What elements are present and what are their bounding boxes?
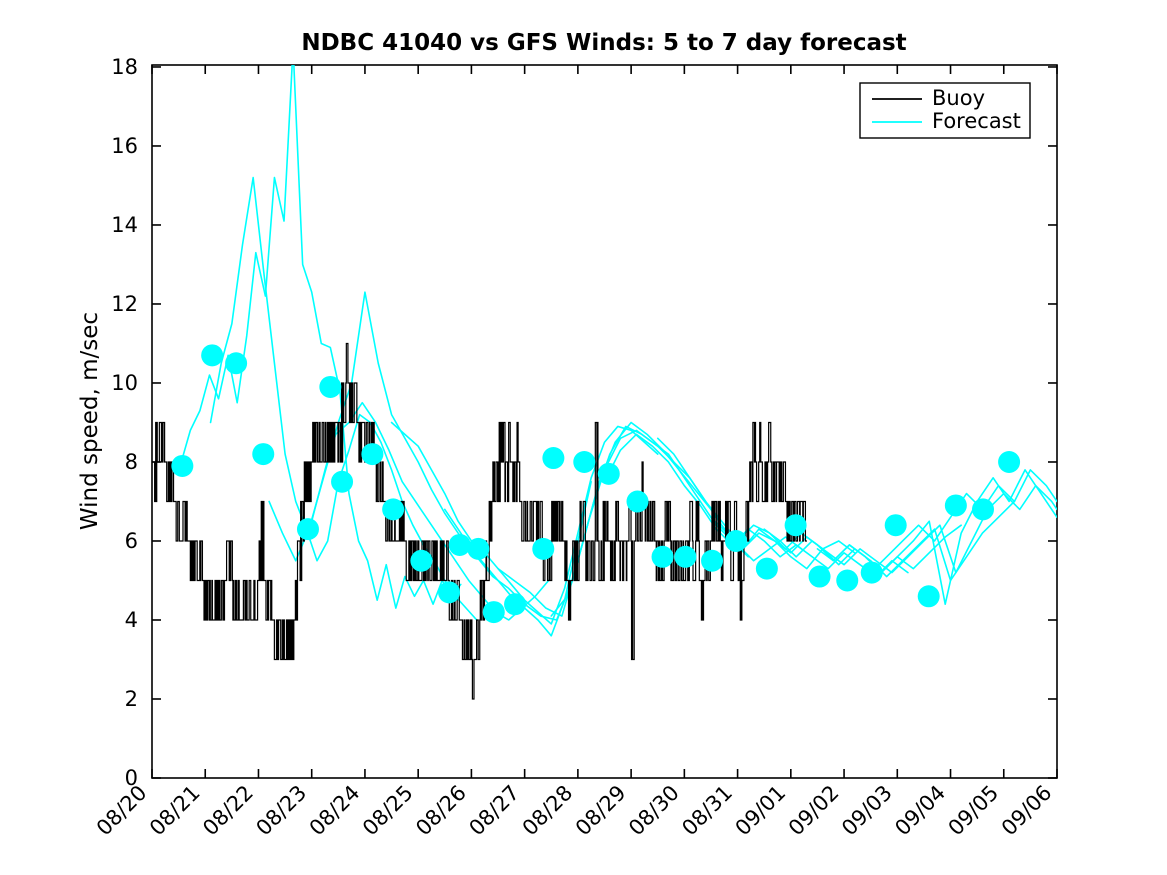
forecast-marker-dot — [171, 455, 193, 477]
x-tick-label: 09/06 — [997, 781, 1057, 841]
y-tick-label: 8 — [125, 450, 138, 474]
x-tick-label: 08/29 — [571, 781, 631, 841]
legend-label-buoy: Buoy — [932, 86, 985, 110]
y-tick-label: 14 — [111, 213, 138, 237]
forecast-marker-dot — [701, 550, 723, 572]
x-tick-label: 08/20 — [92, 781, 152, 841]
x-axis: 08/2008/2108/2208/2308/2408/2508/2608/27… — [92, 65, 1057, 840]
forecast-marker-dot — [598, 463, 620, 485]
x-tick-label: 08/24 — [305, 781, 365, 841]
forecast-marker-dot — [449, 534, 471, 556]
forecast-marker-dot — [297, 518, 319, 540]
forecast-series-path — [181, 47, 460, 608]
forecast-marker-dot — [382, 498, 404, 520]
y-tick-label: 4 — [125, 608, 138, 632]
forecast-series-path — [392, 422, 658, 623]
forecast-marker-dot — [674, 546, 696, 568]
forecast-marker-dot — [361, 443, 383, 465]
forecast-marker-dot — [998, 451, 1020, 473]
buoy-series-path — [152, 343, 807, 699]
x-tick-label: 08/22 — [198, 781, 258, 841]
forecast-marker-dot — [483, 601, 505, 623]
forecast-marker-dot — [225, 352, 247, 374]
wind-speed-chart: NDBC 41040 vs GFS Winds: 5 to 7 day fore… — [0, 0, 1167, 875]
forecast-marker-dot — [725, 530, 747, 552]
forecast-marker-dot — [627, 490, 649, 512]
forecast-marker-dot — [652, 546, 674, 568]
forecast-marker-dot — [331, 471, 353, 493]
forecast-marker-dot — [861, 562, 883, 584]
y-tick-label: 12 — [111, 292, 138, 316]
buoy-series-layer — [152, 343, 807, 699]
x-tick-label: 09/05 — [944, 781, 1004, 841]
y-tick-label: 2 — [125, 687, 138, 711]
forecast-marker-dot — [201, 344, 223, 366]
forecast-marker-dot — [532, 538, 554, 560]
y-tick-label: 18 — [111, 55, 138, 79]
data-layer — [152, 47, 1057, 699]
forecast-marker-dot — [467, 538, 489, 560]
legend[interactable]: Buoy Forecast — [860, 83, 1030, 138]
forecast-marker-dot — [945, 494, 967, 516]
x-tick-label: 08/26 — [411, 781, 471, 841]
forecast-marker-dot — [918, 585, 940, 607]
forecast-marker-dot — [504, 593, 526, 615]
y-axis-title: Wind speed, m/sec — [77, 312, 103, 530]
x-tick-label: 09/04 — [890, 781, 950, 841]
y-tick-label: 10 — [111, 371, 138, 395]
forecast-marker-dot — [885, 514, 907, 536]
forecast-marker-dot — [836, 569, 858, 591]
x-tick-label: 08/27 — [464, 781, 524, 841]
x-tick-label: 08/21 — [145, 781, 205, 841]
forecast-marker-dot — [542, 447, 564, 469]
x-tick-label: 08/25 — [358, 781, 418, 841]
forecast-marker-dot — [809, 566, 831, 588]
chart-title: NDBC 41040 vs GFS Winds: 5 to 7 day fore… — [301, 30, 906, 56]
x-tick-label: 09/02 — [784, 781, 844, 841]
x-tick-label: 09/03 — [837, 781, 897, 841]
forecast-marker-dot — [252, 443, 274, 465]
forecast-series-path — [764, 486, 1057, 573]
legend-label-forecast: Forecast — [932, 109, 1021, 133]
x-tick-label: 08/30 — [624, 781, 684, 841]
forecast-marker-dot — [785, 514, 807, 536]
x-tick-label: 08/23 — [251, 781, 311, 841]
figure-canvas: NDBC 41040 vs GFS Winds: 5 to 7 day fore… — [0, 0, 1167, 875]
x-tick-label: 08/31 — [677, 781, 737, 841]
y-axis: 024681012141618 — [111, 55, 1057, 790]
y-tick-label: 16 — [111, 134, 138, 158]
plot-frame — [152, 65, 1057, 778]
x-tick-label: 08/28 — [518, 781, 578, 841]
forecast-marker-dot — [410, 550, 432, 572]
forecast-marker-dot — [319, 376, 341, 398]
forecast-marker-dot — [972, 498, 994, 520]
forecast-marker-dot — [438, 581, 460, 603]
x-tick-label: 09/01 — [731, 781, 791, 841]
forecast-marker-dot — [756, 558, 778, 580]
y-tick-label: 6 — [125, 529, 138, 553]
forecast-marker-dot — [573, 451, 595, 473]
